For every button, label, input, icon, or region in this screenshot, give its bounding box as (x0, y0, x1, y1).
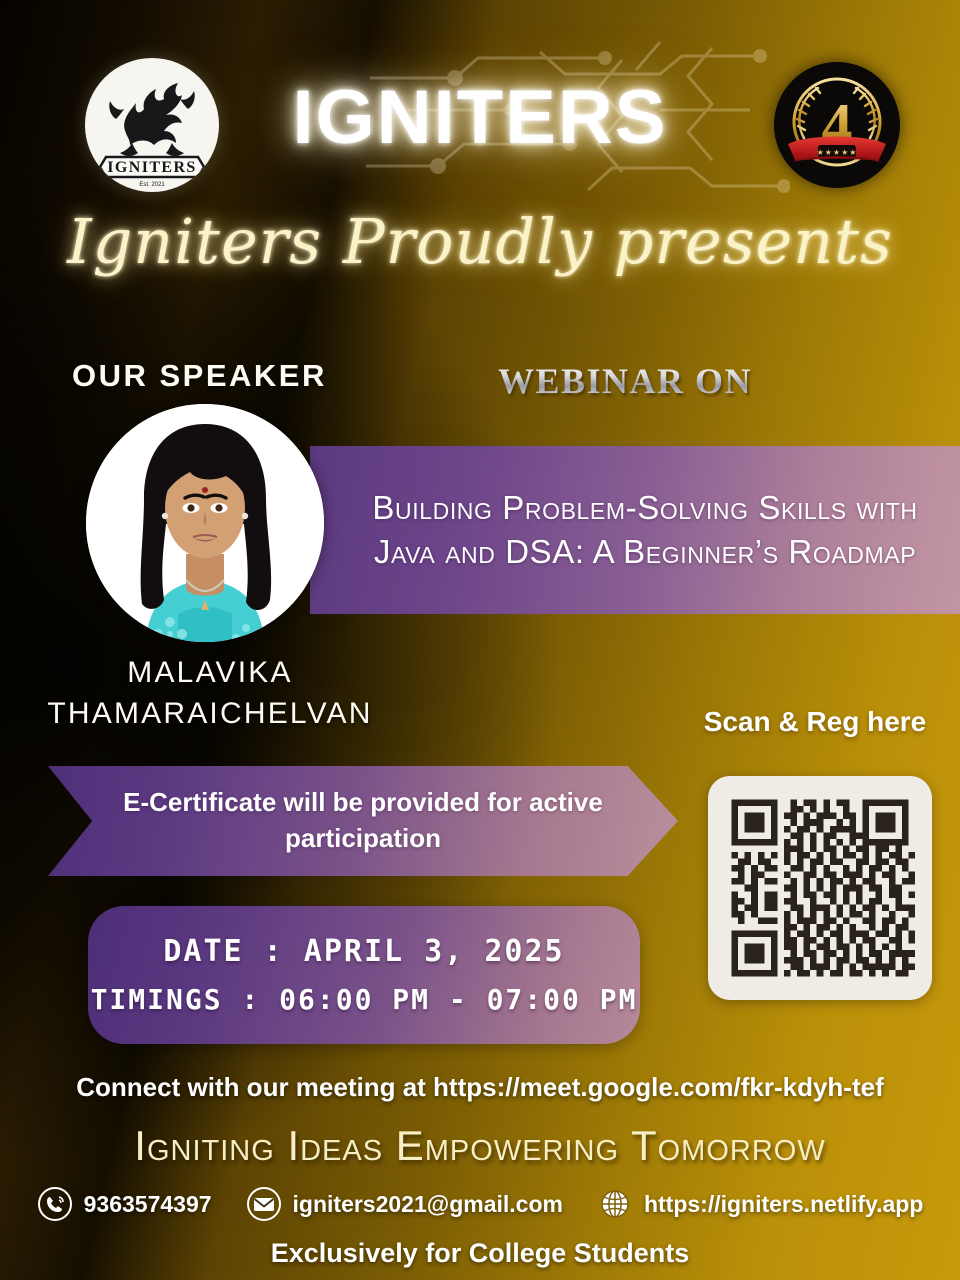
certificate-note: E-Certificate will be provided for activ… (117, 785, 608, 857)
contact-phone[interactable]: 9363574397 (37, 1186, 212, 1222)
phone-number: 9363574397 (84, 1191, 212, 1218)
event-date: DATE : APRIL 3, 2025 (163, 934, 564, 969)
poster-root: IGNITERS Est. 2021 IGNITERS (0, 0, 960, 1280)
contact-website[interactable]: https://igniters.netlify.app (597, 1186, 923, 1222)
avatar (86, 404, 324, 642)
svg-text:IGNITERS: IGNITERS (107, 159, 196, 176)
svg-text:★★★★★: ★★★★★ (817, 148, 858, 157)
phone-icon (37, 1186, 73, 1222)
tagline: Igniting Ideas Empowering Tomorrow (0, 1122, 960, 1170)
webinar-on-label: WEBINAR ON (480, 360, 770, 402)
anniversary-4-badge-icon: 4 ★★★★★ (774, 62, 900, 188)
presents-subtitle: Igniters Proudly presents (0, 205, 960, 278)
email-icon (246, 1186, 282, 1222)
date-time-card: DATE : APRIL 3, 2025 TIMINGS : 06:00 PM … (88, 906, 640, 1044)
anniversary-4-badge: 4 ★★★★★ (774, 62, 900, 188)
svg-text:Est. 2021: Est. 2021 (139, 182, 165, 188)
globe-icon (597, 1186, 633, 1222)
webinar-title: Building Problem-Solving Skills with Jav… (356, 486, 934, 574)
registration-qr-code[interactable] (708, 776, 932, 1000)
webinar-title-banner: Building Problem-Solving Skills with Jav… (310, 446, 960, 614)
website-url: https://igniters.netlify.app (644, 1191, 923, 1218)
email-address: igniters2021@gmail.com (293, 1191, 563, 1218)
speaker-portrait-photo (86, 404, 324, 642)
speaker-name: MALAVIKA THAMARAICHELVAN (0, 652, 420, 735)
scan-register-label: Scan & Reg here (670, 706, 960, 738)
qr-code-icon (725, 793, 915, 983)
contact-bar: 9363574397 igniters2021@gmail.com (0, 1186, 960, 1222)
meeting-link[interactable]: Connect with our meeting at https://meet… (0, 1072, 960, 1103)
audience-note: Exclusively for College Students (0, 1238, 960, 1269)
contact-email[interactable]: igniters2021@gmail.com (246, 1186, 563, 1222)
speaker-section-label: OUR SPEAKER (72, 358, 327, 394)
certificate-ribbon: E-Certificate will be provided for activ… (48, 766, 678, 876)
event-timings: TIMINGS : 06:00 PM - 07:00 PM (91, 983, 638, 1016)
